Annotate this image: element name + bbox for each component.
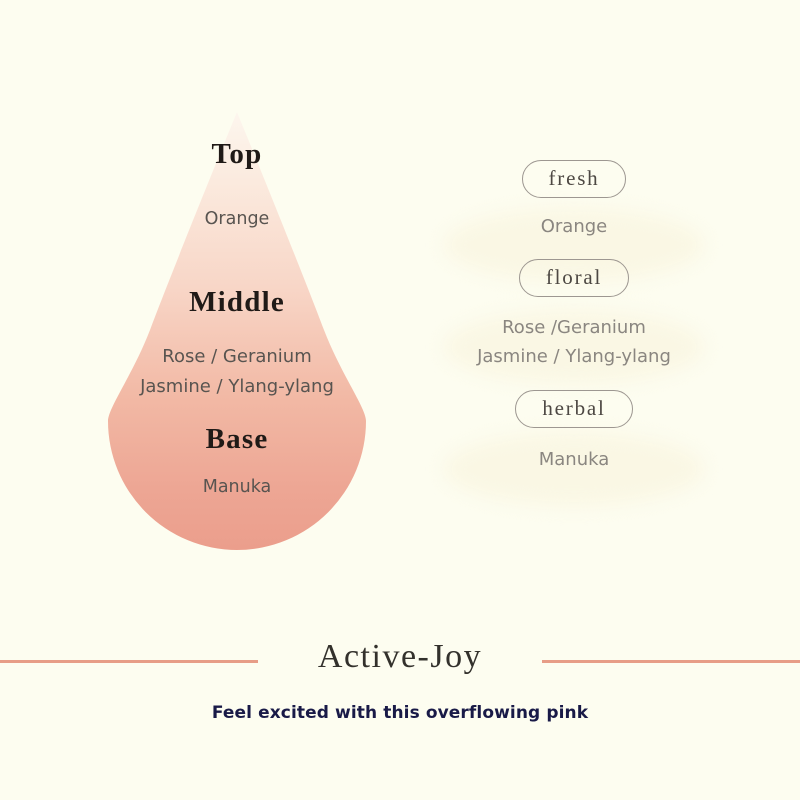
legend-group-herbal: herbal bbox=[432, 390, 716, 428]
droplet-diagram: Top Orange Middle Rose / Geranium Jasmin… bbox=[108, 108, 366, 550]
legend-group-fresh: fresh bbox=[432, 160, 716, 198]
legend-items-floral: Rose /Geranium Jasmine / Ylang-ylang bbox=[432, 313, 716, 371]
scent-category-legend: fresh Orange floral Rose /Geranium Jasmi… bbox=[432, 160, 716, 474]
note-title-top: Top bbox=[108, 138, 366, 171]
poster-canvas: Top Orange Middle Rose / Geranium Jasmin… bbox=[0, 0, 800, 800]
note-items-middle-line-1: Rose / Geranium bbox=[108, 342, 366, 372]
legend-items-herbal-line-1: Manuka bbox=[432, 445, 716, 474]
legend-items-fresh-line-1: Orange bbox=[432, 212, 716, 241]
note-items-top: Orange bbox=[108, 206, 366, 232]
pill-fresh[interactable]: fresh bbox=[522, 160, 627, 198]
note-items-middle: Rose / Geranium Jasmine / Ylang-ylang bbox=[108, 342, 366, 402]
legend-items-fresh: Orange bbox=[432, 212, 716, 241]
legend-group-floral: floral bbox=[432, 259, 716, 297]
brand-tagline: Feel excited with this overflowing pink bbox=[0, 703, 800, 723]
legend-items-herbal: Manuka bbox=[432, 445, 716, 474]
note-items-middle-line-2: Jasmine / Ylang-ylang bbox=[108, 372, 366, 402]
note-title-base: Base bbox=[108, 423, 366, 456]
pill-herbal[interactable]: herbal bbox=[515, 390, 632, 428]
note-items-base: Manuka bbox=[108, 474, 366, 500]
legend-items-floral-line-1: Rose /Geranium bbox=[432, 313, 716, 342]
legend-items-floral-line-2: Jasmine / Ylang-ylang bbox=[432, 342, 716, 371]
brand-title: Active-Joy bbox=[0, 638, 800, 676]
droplet-note-labels: Top Orange Middle Rose / Geranium Jasmin… bbox=[108, 108, 366, 550]
note-title-middle: Middle bbox=[108, 286, 366, 319]
pill-floral[interactable]: floral bbox=[519, 259, 629, 297]
